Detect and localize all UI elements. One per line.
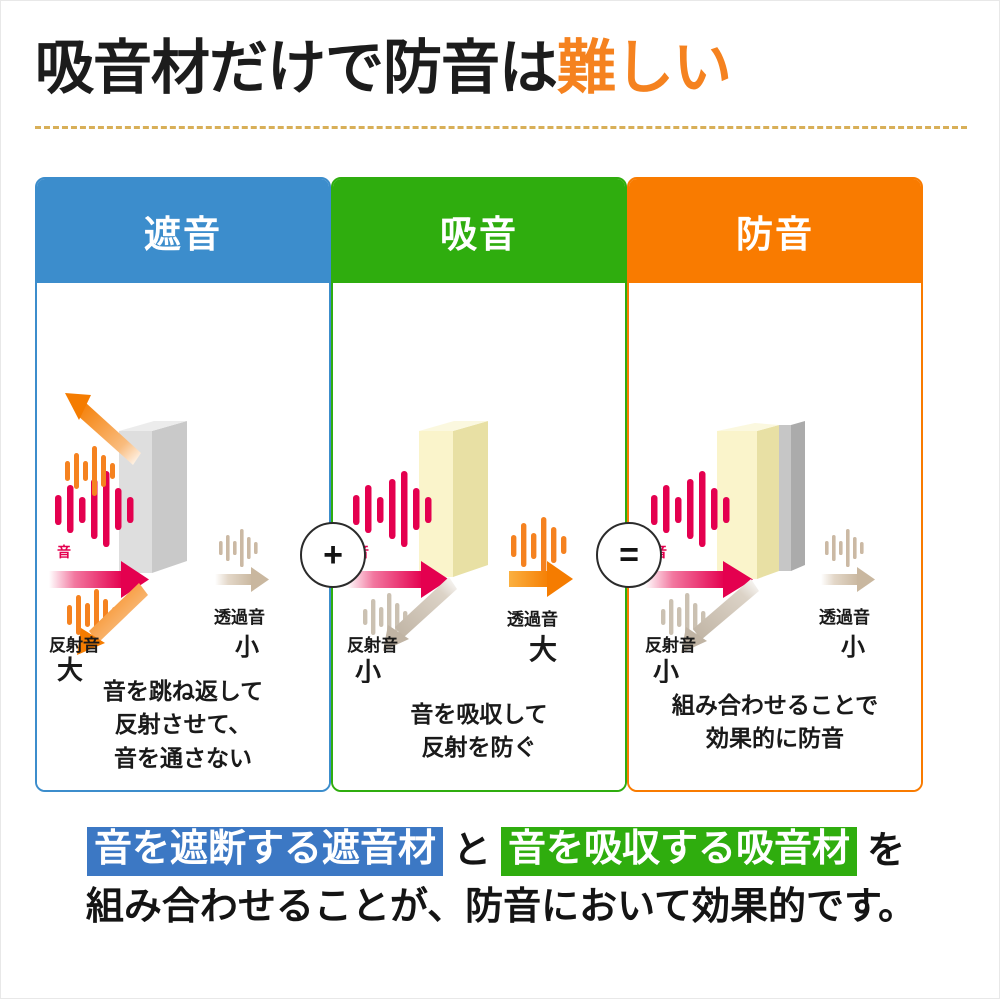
panel-bouon-title: 防音: [736, 204, 814, 258]
panel-bouon-header: 防音: [629, 179, 921, 283]
transmitted-sound-amount: 小: [235, 634, 259, 661]
transmitted-arrow: [821, 567, 875, 592]
conclusion-line-2: 組み合わせることが、防音において効果的です。: [86, 884, 916, 931]
kyuon-diagram: 音: [333, 283, 625, 683]
panels-row: 遮音: [35, 177, 967, 792]
combined-wall: [717, 421, 805, 579]
infographic-page: 吸音材だけで防音は難しい 遮音: [0, 0, 1000, 999]
panel-kyuon-header: 吸音: [333, 179, 625, 283]
transmitted-sound-amount: 小: [841, 634, 865, 661]
page-title: 吸音材だけで防音は難しい: [35, 29, 967, 107]
transmitted-sound-label: 透過音: [507, 609, 558, 629]
reflected-sound-amount: 小: [355, 657, 381, 683]
conclusion-line-1: 音を遮断する遮音材 と 音を吸収する吸音材 を: [87, 827, 915, 876]
operator-plus: +: [300, 522, 366, 588]
panel-kyuon-caption: 音を吸収して 反射を防ぐ: [333, 698, 625, 765]
panel-kyuon-title: 吸音: [440, 204, 518, 258]
transmitted-arrow: [215, 567, 269, 592]
panel-bouon-body: 音: [629, 283, 921, 790]
reflected-sound-label: 反射音: [49, 635, 100, 655]
reflected-sound-label: 反射音: [645, 635, 696, 655]
transmitted-sound-label: 透過音: [819, 607, 870, 627]
transmitted-soundwave: [511, 517, 566, 573]
transmitted-soundwave: [219, 529, 258, 567]
title-divider: [35, 126, 967, 129]
shaon-diagram: 音: [37, 283, 329, 683]
panel-shaon[interactable]: 遮音: [35, 177, 331, 792]
panel-kyuon[interactable]: 吸音: [331, 177, 627, 792]
transmitted-soundwave: [825, 529, 864, 567]
panel-shaon-header: 遮音: [37, 179, 329, 283]
conclusion-conjunction: と: [443, 828, 501, 875]
reflected-sound-label: 反射音: [347, 635, 398, 655]
source-sound-label: 音: [57, 544, 71, 560]
conclusion-block: 音を遮断する遮音材 と 音を吸収する吸音材 を 組み合わせることが、防音において…: [35, 827, 967, 967]
operator-equals: =: [596, 522, 662, 588]
panel-bouon[interactable]: 防音: [627, 177, 923, 792]
reflected-sound-amount: 小: [653, 657, 679, 683]
bouon-diagram: 音: [629, 283, 921, 683]
transmitted-sound-label: 透過音: [214, 607, 265, 627]
panel-shaon-caption: 音を跳ね返して 反射させて、 音を通さない: [37, 675, 329, 775]
transmitted-sound-amount: 大: [529, 634, 557, 665]
conclusion-particle: を: [857, 828, 915, 875]
panel-bouon-caption: 組み合わせることで 効果的に防音: [629, 689, 921, 756]
title-main-text: 吸音材だけで防音は: [35, 35, 557, 101]
panel-kyuon-body: 音: [333, 283, 625, 790]
panel-shaon-body: 音: [37, 283, 329, 790]
title-accent-text: 難しい: [557, 35, 731, 101]
panel-shaon-title: 遮音: [144, 204, 222, 258]
highlight-kyuon-material: 音を吸収する吸音材: [501, 827, 857, 876]
highlight-shaon-material: 音を遮断する遮音材: [87, 827, 443, 876]
